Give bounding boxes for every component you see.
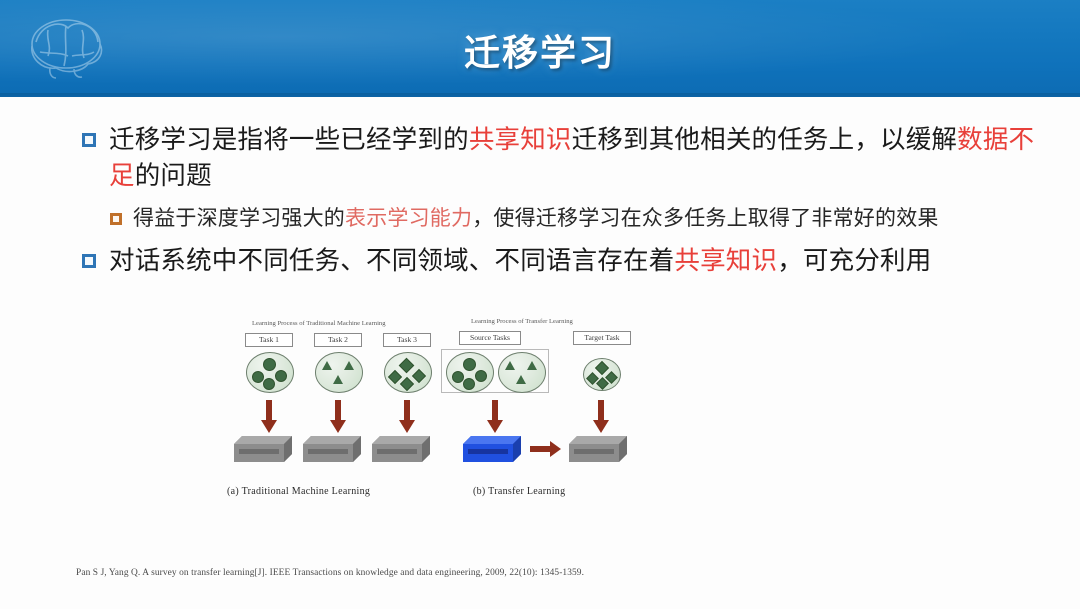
task-label-2: Task 2 [314,333,362,347]
data-shape-diamond [595,361,609,375]
bullet-1-seg-4: 的问题 [135,162,212,190]
bullet-text-1: 迁移学习是指将一些已经学到的共享知识迁移到其他相关的任务上，以缓解数据不足的问题 [109,122,1042,194]
data-shape-circle [463,378,475,390]
bullet-text-2: 得益于深度学习强大的表示学习能力，使得迁移学习在众多任务上取得了非常好的效果 [133,204,939,234]
data-shape-diamond [388,370,402,384]
arrow-down-icon [486,400,504,434]
model-box-gray [234,436,292,462]
model-box-gray [372,436,430,462]
page-title: 迁移学习 [0,24,1080,76]
data-shape-circle [475,370,487,382]
figure-caption-b: (b) Transfer Learning [473,486,565,497]
transfer-learning-figure: Learning Process of Traditional Machine … [205,316,675,506]
data-shape-diamond [412,369,426,383]
figure-caption-a: (a) Traditional Machine Learning [227,486,370,497]
slide-header: 迁移学习 [0,0,1080,93]
model-box-blue [463,436,521,462]
data-shape-triangle [322,361,332,370]
data-shape-diamond [400,377,414,391]
arrow-down-icon [260,400,278,434]
bullet-3-seg-1-highlight: 共享知识 [674,247,777,275]
task-label-target: Target Task [573,331,631,345]
task-label-source: Source Tasks [459,331,521,345]
figure-title-transfer: Learning Process of Transfer Learning [471,318,573,325]
task1-data-blob [246,352,294,393]
data-shape-triangle [527,361,537,370]
source-task-blob-1 [446,352,494,393]
data-shape-circle [463,358,476,371]
bullet-item-3: 对话系统中不同任务、不同领域、不同语言存在着共享知识，可充分利用 [82,243,1042,279]
model-box-gray-target [569,436,627,462]
bullet-2-seg-0: 得益于深度学习强大的 [133,207,345,230]
bullet-1-seg-0: 迁移学习是指将一些已经学到的 [109,126,469,154]
slide-content: 迁移学习是指将一些已经学到的共享知识迁移到其他相关的任务上，以缓解数据不足的问题… [0,100,1080,279]
bullet-marker-square-icon [82,254,96,268]
data-shape-circle [252,371,264,383]
bullet-marker-square-icon [82,133,96,147]
bullet-2-seg-2: ，使得迁移学习在众多任务上取得了非常好的效果 [472,207,938,230]
task-label-3: Task 3 [383,333,431,347]
bullet-2-seg-1-highlight: 表示学习能力 [345,207,472,230]
task2-data-blob [315,352,363,393]
bullet-text-3: 对话系统中不同任务、不同领域、不同语言存在着共享知识，可充分利用 [109,243,931,279]
arrow-down-icon [398,400,416,434]
model-box-gray [303,436,361,462]
arrow-down-icon [329,400,347,434]
figure-title-traditional: Learning Process of Traditional Machine … [252,320,386,327]
data-shape-triangle [505,361,515,370]
citation-text: Pan S J, Yang Q. A survey on transfer le… [76,568,584,578]
bullet-item-2: 得益于深度学习强大的表示学习能力，使得迁移学习在众多任务上取得了非常好的效果 [110,204,1040,234]
bullet-item-1: 迁移学习是指将一些已经学到的共享知识迁移到其他相关的任务上，以缓解数据不足的问题 [82,122,1042,194]
arrow-right-icon [530,441,562,458]
bullet-3-seg-0: 对话系统中不同任务、不同领域、不同语言存在着 [109,247,674,275]
bullet-3-seg-2: ，可充分利用 [777,247,931,275]
task-label-1: Task 1 [245,333,293,347]
data-shape-triangle [344,361,354,370]
slide: 迁移学习 迁移学习是指将一些已经学到的共享知识迁移到其他相关的任务上，以缓解数据… [0,0,1080,609]
data-shape-triangle [516,375,526,384]
task3-data-blob [384,352,432,393]
data-shape-triangle [333,375,343,384]
data-shape-diamond [399,358,415,374]
header-underline [0,93,1080,97]
bullet-1-seg-2: 迁移到其他相关的任务上，以缓解 [572,126,958,154]
data-shape-circle [263,378,275,390]
sub-bullet-marker-square-icon [110,213,122,225]
target-task-blob [583,358,621,391]
bullet-1-seg-1-highlight: 共享知识 [469,126,572,154]
data-shape-circle [263,358,276,371]
arrow-down-icon [592,400,610,434]
data-shape-circle [452,371,464,383]
source-task-blob-2 [498,352,546,393]
data-shape-circle [275,370,287,382]
